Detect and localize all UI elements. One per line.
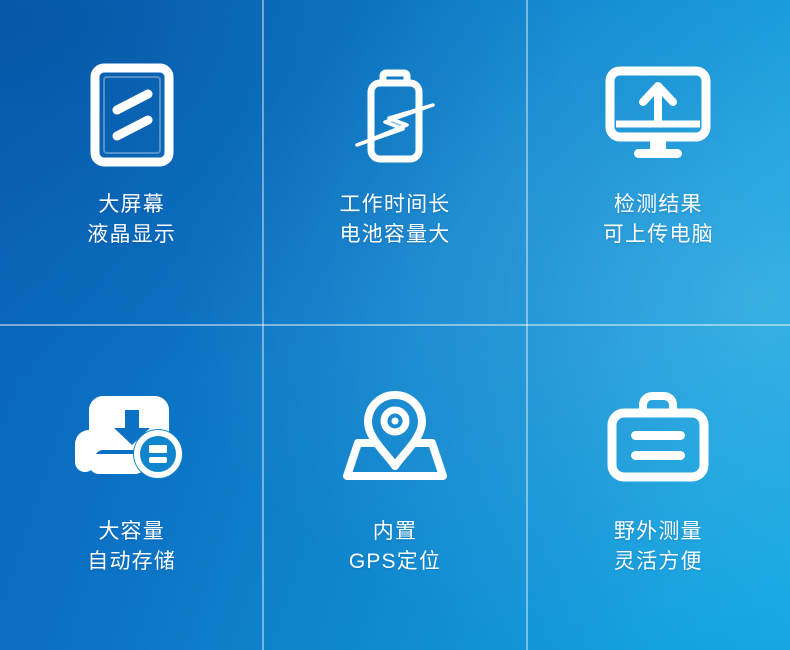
feature-label-line2: 电池容量大 (339, 220, 450, 250)
feature-labels: 大屏幕 液晶显示 (87, 190, 176, 250)
feature-cell-storage[interactable]: 大容量 自动存储 (0, 325, 263, 650)
feature-label-line2: 可上传电脑 (603, 220, 714, 250)
map-pin-icon (342, 383, 448, 489)
feature-cell-briefcase[interactable]: 野外测量 灵活方便 (527, 325, 790, 650)
feature-label-line1: 大屏幕 (87, 190, 176, 220)
feature-label-line1: 野外测量 (614, 517, 703, 547)
monitor-upload-icon (605, 62, 711, 168)
feature-cell-battery[interactable]: 工作时间长 电池容量大 (263, 0, 526, 325)
feature-label-line1: 大容量 (87, 517, 176, 547)
feature-cell-lcd-screen[interactable]: 大屏幕 液晶显示 (0, 0, 263, 325)
feature-label-line2: 液晶显示 (87, 220, 176, 250)
feature-label-line2: 灵活方便 (614, 547, 703, 577)
feature-labels: 工作时间长 电池容量大 (339, 190, 450, 250)
feature-cell-monitor-upload[interactable]: 检测结果 可上传电脑 (527, 0, 790, 325)
feature-labels: 检测结果 可上传电脑 (603, 190, 714, 250)
feature-highlight-board: 大屏幕 液晶显示 工作时间长 电池容量大 (0, 0, 790, 650)
feature-labels: 野外测量 灵活方便 (614, 517, 703, 577)
feature-label-line2: 自动存储 (87, 547, 176, 577)
briefcase-icon (607, 383, 709, 489)
feature-grid: 大屏幕 液晶显示 工作时间长 电池容量大 (0, 0, 790, 650)
lcd-screen-icon (90, 62, 174, 168)
feature-label-line1: 工作时间长 (339, 190, 450, 220)
feature-label-line1: 内置 (349, 517, 441, 547)
feature-labels: 大容量 自动存储 (87, 517, 176, 577)
feature-cell-gps[interactable]: 内置 GPS定位 (263, 325, 526, 650)
feature-labels: 内置 GPS定位 (349, 517, 441, 577)
storage-save-icon (79, 383, 185, 489)
feature-label-line2: GPS定位 (349, 547, 441, 577)
feature-label-line1: 检测结果 (603, 190, 714, 220)
battery-bolt-icon (345, 62, 445, 168)
